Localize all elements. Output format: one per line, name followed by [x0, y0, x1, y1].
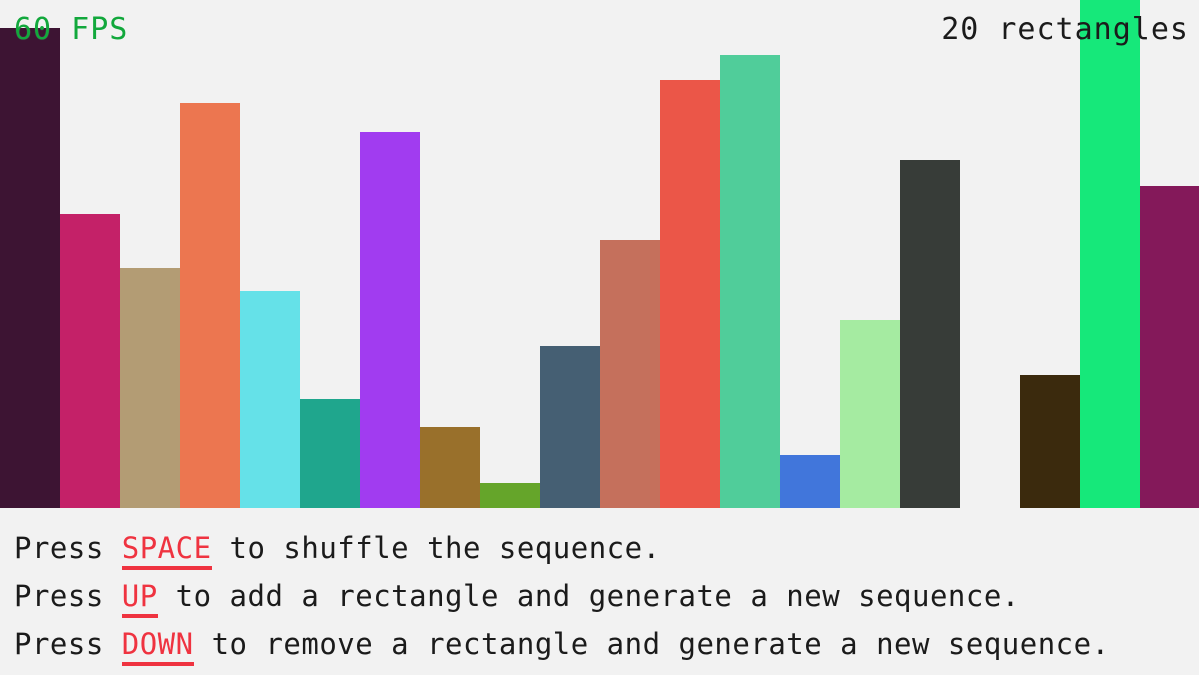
bar-13 [720, 55, 780, 508]
bar-5 [240, 291, 300, 508]
instruction-line-2: Press UP to add a rectangle and generate… [14, 572, 1199, 620]
bar-7 [360, 132, 420, 508]
rectangle-chart [0, 0, 1199, 508]
bar-8 [420, 427, 480, 508]
bar-12 [660, 80, 720, 508]
instructions-panel: Press SPACE to shuffle the sequence.Pres… [0, 508, 1199, 675]
instruction-prefix: Press [14, 579, 122, 613]
bar-16 [900, 160, 960, 508]
bar-20 [1140, 186, 1199, 508]
instruction-prefix: Press [14, 627, 122, 661]
key-hint-up[interactable]: UP [122, 579, 158, 618]
bar-15 [840, 320, 900, 508]
instruction-line-3: Press DOWN to remove a rectangle and gen… [14, 620, 1199, 668]
bar-2 [60, 214, 120, 508]
key-hint-down[interactable]: DOWN [122, 627, 194, 666]
bar-3 [120, 268, 180, 508]
rectangle-count-label: 20 rectangles [941, 12, 1189, 47]
instruction-prefix: Press [14, 531, 122, 565]
bar-19 [1080, 0, 1140, 508]
bar-10 [540, 346, 600, 508]
bar-11 [600, 240, 660, 508]
bar-18 [1020, 375, 1080, 508]
bar-9 [480, 483, 540, 508]
bar-6 [300, 399, 360, 508]
bar-14 [780, 455, 840, 508]
instruction-suffix: to shuffle the sequence. [212, 531, 661, 565]
fps-counter: 60 FPS [14, 12, 128, 47]
instruction-suffix: to add a rectangle and generate a new se… [158, 579, 1020, 613]
bar-4 [180, 103, 240, 508]
instruction-suffix: to remove a rectangle and generate a new… [194, 627, 1110, 661]
bar-1 [0, 28, 60, 508]
app-root: 60 FPS 20 rectangles Press SPACE to shuf… [0, 0, 1199, 675]
instruction-line-1: Press SPACE to shuffle the sequence. [14, 524, 1199, 572]
key-hint-space[interactable]: SPACE [122, 531, 212, 570]
